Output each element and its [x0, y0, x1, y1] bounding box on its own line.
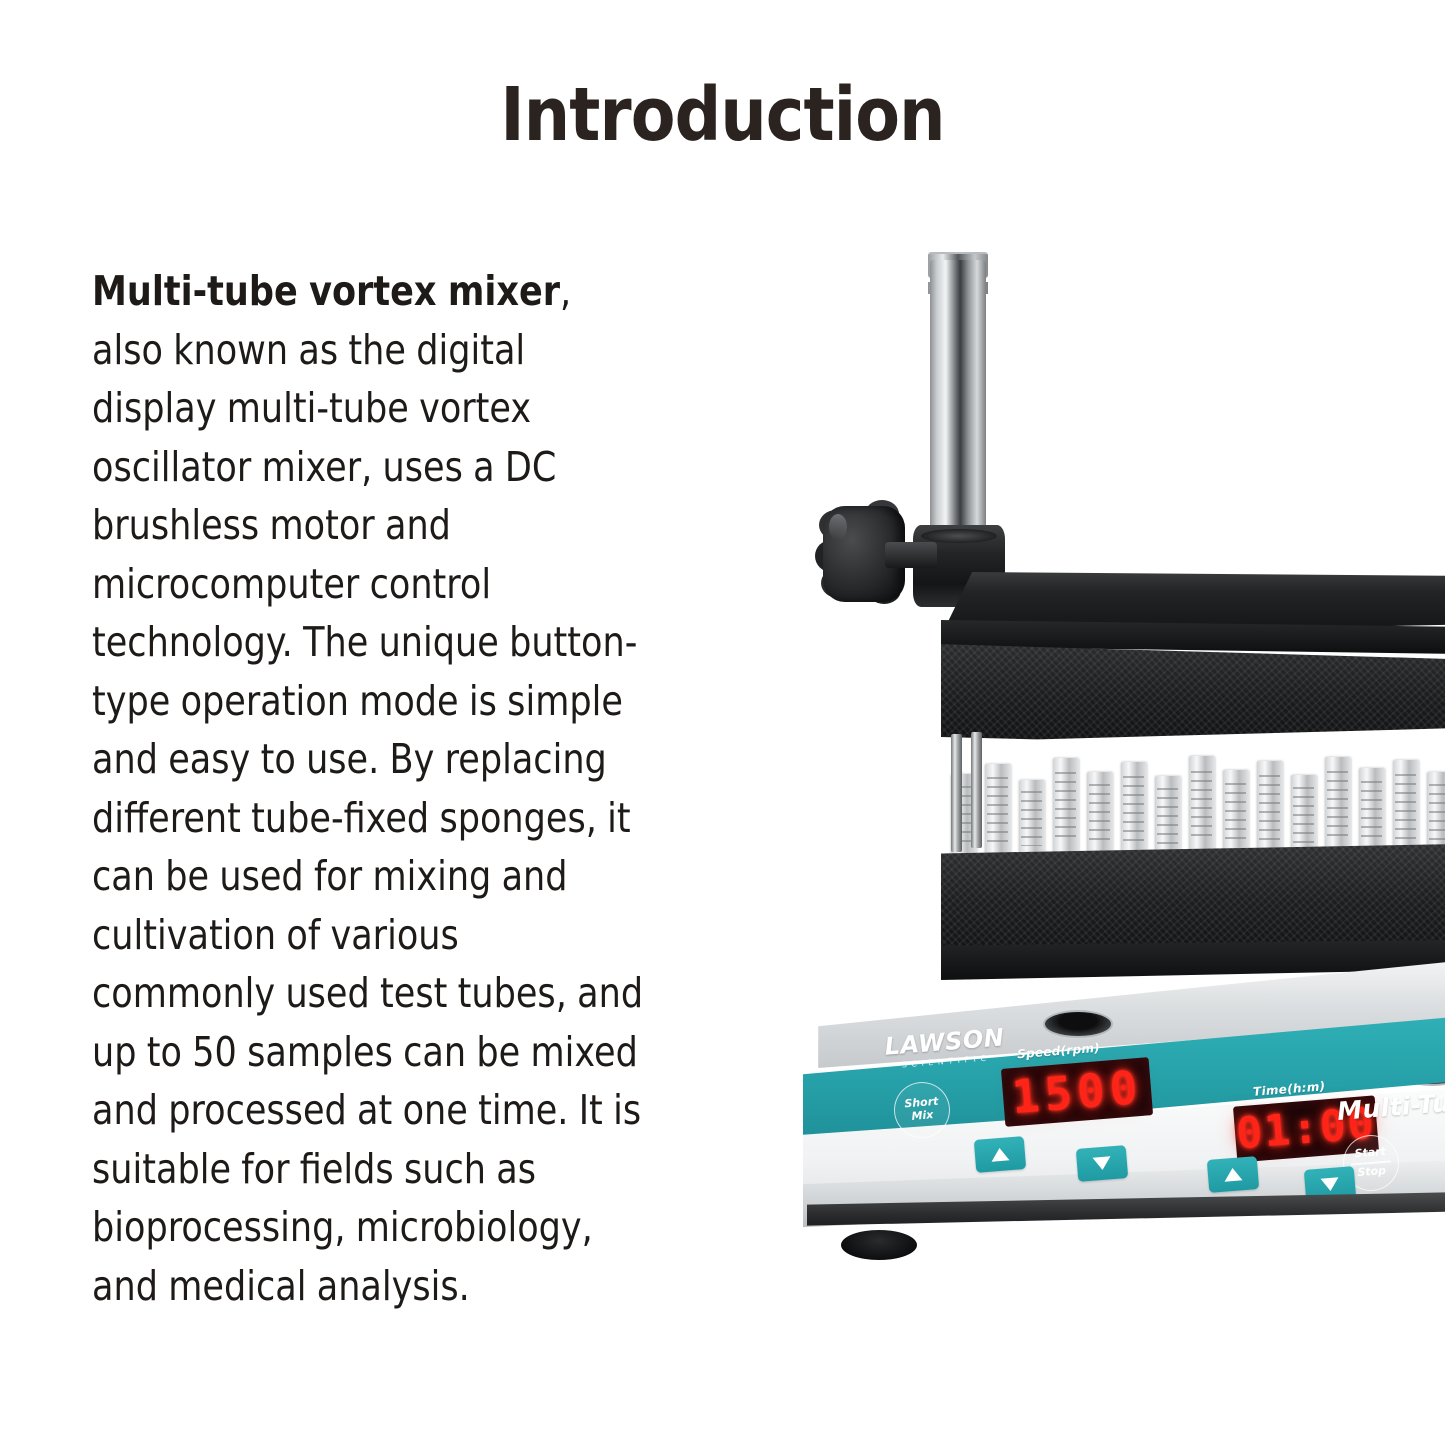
- chrome-guide-rod: [971, 732, 982, 848]
- start-label: Start: [1354, 1146, 1386, 1161]
- clamp-knob: [823, 506, 931, 602]
- speed-decrease-button[interactable]: [1076, 1145, 1128, 1182]
- page-root: Introduction Multi-tube vortex mixer, al…: [0, 0, 1445, 1445]
- arrow-up-icon: [1224, 1167, 1243, 1181]
- test-tube: [1155, 776, 1181, 860]
- platform-mount-hole: [1043, 1010, 1113, 1038]
- test-tube: [1053, 758, 1079, 860]
- speed-led-display: 1500: [1001, 1057, 1153, 1127]
- time-increase-button[interactable]: [1207, 1156, 1259, 1193]
- speed-increase-button[interactable]: [974, 1136, 1026, 1173]
- test-tube: [985, 764, 1011, 860]
- speed-value: 1500: [1010, 1060, 1145, 1124]
- introduction-body-text: , also known as the digital display mult…: [92, 267, 643, 1310]
- rubber-foot: [841, 1230, 917, 1260]
- short-mix-label-line2: Mix: [911, 1109, 934, 1124]
- test-tube: [1087, 772, 1113, 860]
- knob-stem: [885, 542, 937, 568]
- chrome-guide-rod: [951, 734, 962, 852]
- introduction-paragraph: Multi-tube vortex mixer, also known as t…: [92, 262, 648, 1315]
- test-tube: [1121, 762, 1147, 860]
- arrow-down-icon: [1093, 1156, 1112, 1170]
- arrow-up-icon: [991, 1147, 1010, 1161]
- stop-label: Stop: [1357, 1165, 1387, 1180]
- page-title: Introduction: [87, 72, 1359, 158]
- product-name-emphasis: Multi-tube vortex mixer: [92, 267, 560, 315]
- test-tube: [1257, 761, 1283, 860]
- test-tube: [1189, 756, 1215, 860]
- test-tube: [1325, 757, 1351, 860]
- vortex-mixer-product-photo: LAWSON SCIENTIFIC Short Mix Speed(rpm) 1…: [745, 230, 1445, 1330]
- test-tube: [1019, 780, 1045, 860]
- arrow-down-icon: [1321, 1177, 1340, 1191]
- knob-highlight: [829, 514, 847, 540]
- chrome-support-post: [930, 260, 986, 560]
- test-tube: [1223, 770, 1249, 860]
